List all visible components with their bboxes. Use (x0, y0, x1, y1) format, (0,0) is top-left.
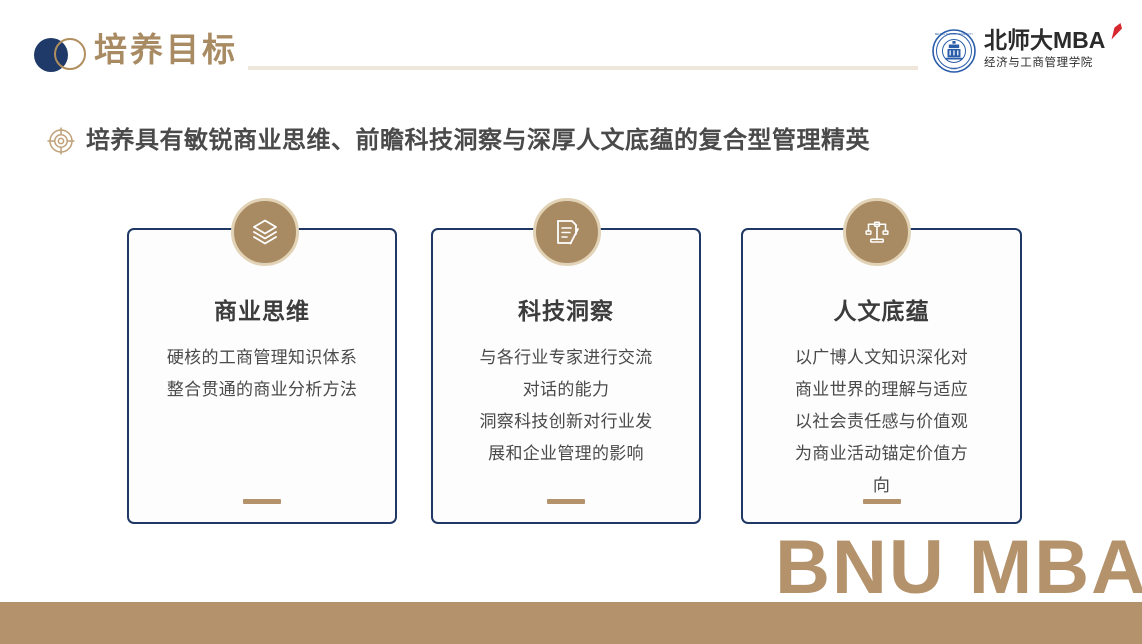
card-body-line: 为商业活动锚定价值方 (757, 438, 1006, 470)
card-body-line: 商业世界的理解与适应 (757, 374, 1006, 406)
card-body-line: 以社会责任感与价值观 (757, 406, 1006, 438)
footer-wordmark: BNU MBA (775, 530, 1142, 606)
balance-scales-icon (862, 217, 892, 247)
card-bottom-dash (547, 499, 585, 504)
goal-card-business-thinking[interactable]: 商业思维 硬核的工商管理知识体系 整合贯通的商业分析方法 (127, 228, 397, 524)
card-body-line: 对话的能力 (447, 374, 685, 406)
document-edit-icon (552, 217, 582, 247)
footer-bar (0, 602, 1142, 644)
card-body-line: 硬核的工商管理知识体系 (143, 342, 381, 374)
card-bottom-dash (243, 499, 281, 504)
card-body: 硬核的工商管理知识体系 整合贯通的商业分析方法 (143, 342, 381, 406)
slide-canvas: 培养目标 BEIJING NORM (0, 0, 1142, 644)
layers-stack-icon (250, 217, 280, 247)
card-body-line: 向 (757, 470, 1006, 502)
goal-card-humanities[interactable]: 人文底蕴 以广博人文知识深化对 商业世界的理解与适应 以社会责任感与价值观 为商… (741, 228, 1022, 524)
card-icon-badge (843, 198, 911, 266)
card-body-line: 展和企业管理的影响 (447, 438, 685, 470)
card-title: 科技洞察 (433, 296, 699, 326)
card-body-line: 整合贯通的商业分析方法 (143, 374, 381, 406)
card-body-line: 以广博人文知识深化对 (757, 342, 1006, 374)
card-body: 与各行业专家进行交流 对话的能力 洞察科技创新对行业发 展和企业管理的影响 (447, 342, 685, 470)
card-icon-badge (533, 198, 601, 266)
card-title: 人文底蕴 (743, 296, 1020, 326)
card-body-line: 与各行业专家进行交流 (447, 342, 685, 374)
goal-card-tech-insight[interactable]: 科技洞察 与各行业专家进行交流 对话的能力 洞察科技创新对行业发 展和企业管理的… (431, 228, 701, 524)
card-body-line: 洞察科技创新对行业发 (447, 406, 685, 438)
card-title: 商业思维 (129, 296, 395, 326)
card-icon-badge (231, 198, 299, 266)
card-bottom-dash (863, 499, 901, 504)
card-body: 以广博人文知识深化对 商业世界的理解与适应 以社会责任感与价值观 为商业活动锚定… (757, 342, 1006, 502)
